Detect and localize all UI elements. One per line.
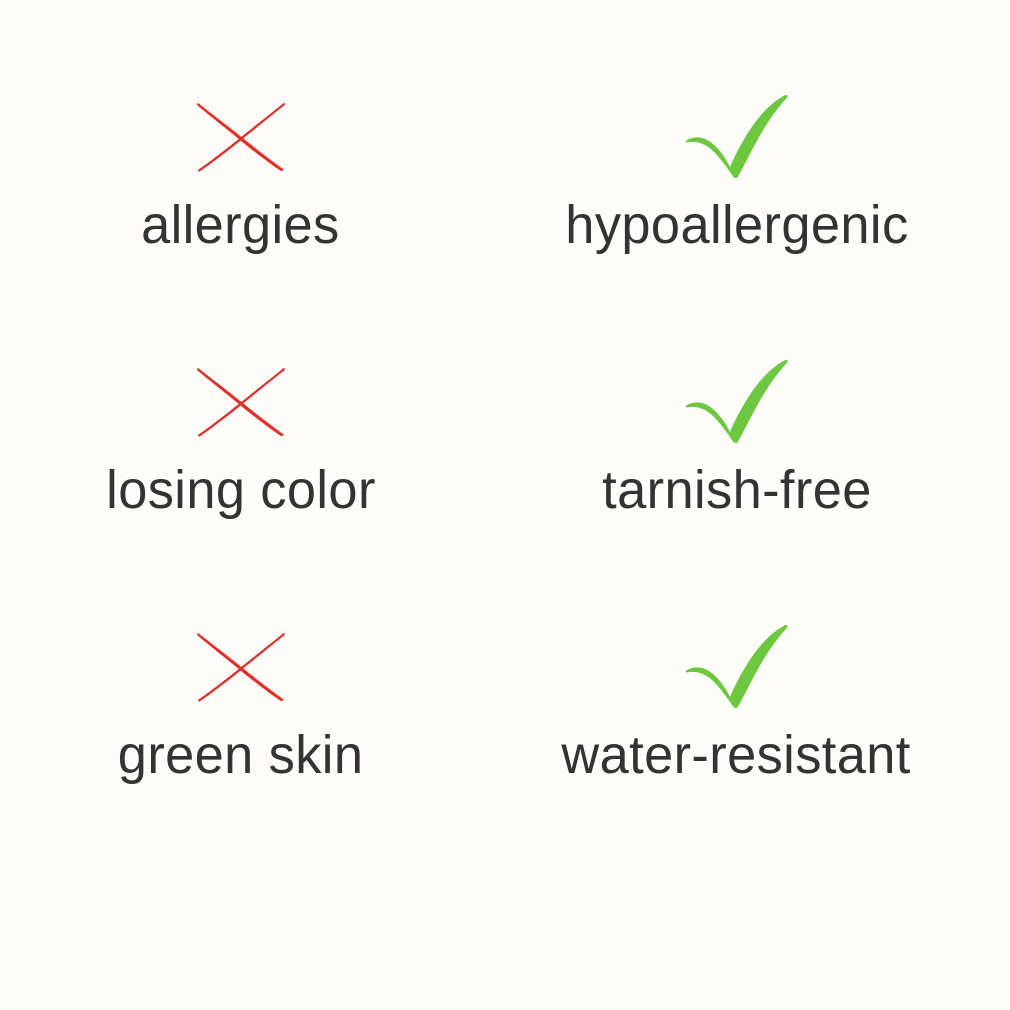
benefits-grid: allergies hypoallergenic losing color bbox=[0, 92, 1010, 887]
comparison-board: allergies hypoallergenic losing color bbox=[0, 0, 1010, 1010]
comparison-cell-positive: water-resistant bbox=[484, 622, 989, 887]
cell-label: allergies bbox=[141, 196, 340, 254]
cell-label: green skin bbox=[118, 726, 364, 784]
cell-label: losing color bbox=[106, 461, 376, 519]
cell-label: tarnish-free bbox=[602, 461, 872, 519]
cross-icon bbox=[195, 622, 287, 710]
cell-label: water-resistant bbox=[562, 726, 911, 784]
comparison-cell-positive: tarnish-free bbox=[484, 357, 989, 622]
check-icon bbox=[685, 357, 789, 445]
check-icon bbox=[685, 92, 789, 180]
cross-icon bbox=[195, 92, 287, 180]
comparison-cell-negative: losing color bbox=[0, 357, 493, 622]
comparison-cell-positive: hypoallergenic bbox=[484, 92, 989, 357]
comparison-cell-negative: green skin bbox=[0, 622, 493, 887]
cross-icon bbox=[195, 357, 287, 445]
check-icon bbox=[685, 622, 789, 710]
cell-label: hypoallergenic bbox=[565, 196, 908, 254]
comparison-cell-negative: allergies bbox=[0, 92, 493, 357]
